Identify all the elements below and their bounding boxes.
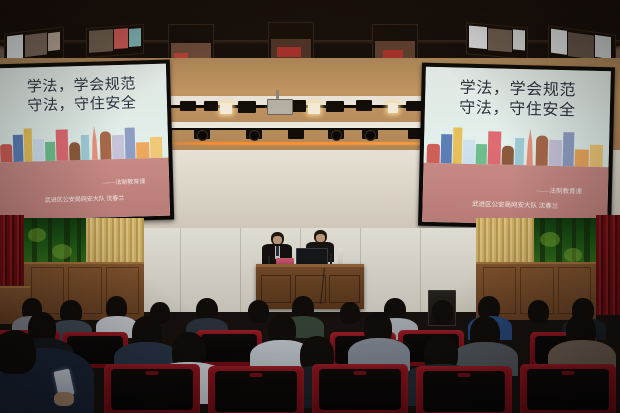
stage-light-1 (180, 101, 196, 111)
auditorium-photo: 学法，学会规范 守法，守住安全 ——法制教育课 武进区公安局网安大队 沈春兰 (0, 0, 620, 413)
audience-seat-f1 (104, 364, 200, 413)
stage-light-7 (406, 101, 422, 111)
microphone (268, 256, 270, 264)
water-bottle (338, 248, 343, 264)
audience-head-b8 (340, 302, 360, 324)
spotlight-lit-3 (308, 103, 320, 114)
slide-subtitle-dash-right: ——法制教育课 (536, 184, 582, 195)
lens-5 (365, 130, 376, 141)
par-can-4 (288, 129, 304, 139)
microphone-2 (330, 254, 332, 264)
audience-head-b10 (432, 300, 453, 323)
skyline-illustration-left (0, 121, 168, 162)
projector-mount (276, 90, 279, 99)
audience-seat-f3 (312, 364, 408, 413)
foreground-person-head (0, 330, 36, 374)
spotlight-lit-2 (220, 103, 232, 114)
stage-light-6 (356, 100, 372, 111)
stage-light-5 (326, 101, 344, 112)
speaker-right-face (316, 234, 325, 242)
left-projection-screen: 学法，学会规范 守法，守住安全 ——法制教育课 武进区公安局网安大队 沈春兰 (0, 60, 174, 225)
lens-4 (331, 130, 342, 141)
audience-seat-f4 (416, 366, 512, 413)
right-projection-screen: 学法，学会规范 守法，守住安全 ——法制教育课 武进区公安局网安大队 沈春兰 (418, 63, 615, 231)
foreground-hand (54, 392, 74, 406)
lens-3 (249, 130, 260, 141)
ceiling-projector (267, 99, 293, 115)
lens-2 (197, 130, 208, 141)
skyline-illustration-right (424, 126, 610, 168)
audience-seat-f2 (208, 366, 304, 413)
speaker-left-tie (276, 246, 279, 256)
stage-light-3 (238, 101, 256, 113)
audience-seat-f5 (520, 364, 616, 413)
slide-title-left: 学法，学会规范 守法，守住安全 (0, 74, 167, 117)
stage-light-2 (204, 101, 218, 111)
audience-head-b6 (248, 300, 269, 323)
speaker-left-face (273, 236, 282, 244)
spotlight-lit-4 (388, 103, 398, 113)
ceiling-lightbox-6 (466, 22, 528, 59)
audience-area (0, 296, 620, 413)
slide-title-right: 学法，学会规范 守法，守住安全 (425, 78, 611, 123)
ceiling-lightbox-2 (86, 24, 144, 58)
slide-subtitle-dash-left: ——法制教育课 (103, 177, 145, 187)
audience-head-b12 (528, 300, 549, 323)
